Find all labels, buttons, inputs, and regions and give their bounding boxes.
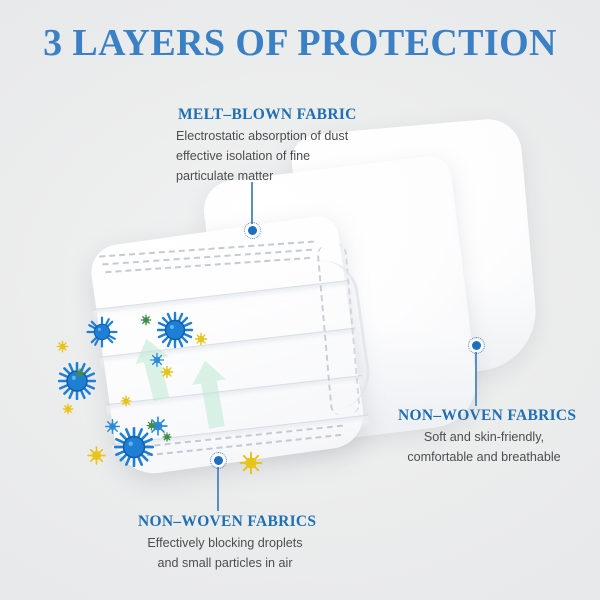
non-woven-inner-body: Effectively blocking droplets and small … bbox=[134, 533, 316, 573]
non-woven-inner-marker[interactable] bbox=[210, 452, 227, 469]
non-woven-inner-leader-line bbox=[217, 467, 219, 511]
melt-blown-body: Electrostatic absorption of dust effecti… bbox=[176, 126, 348, 186]
virus-particle-icon bbox=[75, 368, 85, 378]
virus-particle-icon bbox=[146, 420, 157, 431]
virus-particle-icon bbox=[162, 432, 172, 442]
melt-blown-body-line: particulate matter bbox=[176, 166, 348, 186]
non-woven-outer-leader-line bbox=[475, 352, 477, 406]
mask-stitch-line bbox=[105, 257, 310, 273]
arrow-stem bbox=[201, 381, 225, 429]
non-woven-outer-marker[interactable] bbox=[468, 337, 485, 354]
virus-particle-icon bbox=[120, 395, 132, 407]
virus-particle-icon bbox=[238, 450, 264, 476]
marker-dot bbox=[472, 341, 481, 350]
virus-particle-icon bbox=[104, 418, 121, 435]
virus-particle-icon bbox=[155, 310, 195, 350]
virus-particle-icon bbox=[56, 340, 69, 353]
mask-pleat bbox=[93, 280, 351, 323]
non-woven-outer-heading: NON–WOVEN FABRICS bbox=[398, 407, 576, 425]
virus-particle-icon bbox=[85, 315, 119, 349]
mask-stitch-line bbox=[99, 241, 314, 258]
mask-stitch-line bbox=[102, 249, 312, 266]
virus-particle-icon bbox=[140, 314, 152, 326]
melt-blown-body-line: effective isolation of fine bbox=[176, 146, 348, 166]
virus-particle-icon bbox=[160, 365, 174, 379]
non-woven-inner-body-line: Effectively blocking droplets bbox=[134, 533, 316, 553]
page-title: 3 LAYERS OF PROTECTION bbox=[0, 21, 600, 65]
virus-particle-icon bbox=[86, 445, 107, 466]
non-woven-outer-body: Soft and skin-friendly, comfortable and … bbox=[398, 427, 570, 467]
marker-dot bbox=[248, 226, 257, 235]
non-woven-inner-heading: NON–WOVEN FABRICS bbox=[138, 513, 316, 531]
virus-particle-icon bbox=[62, 403, 74, 415]
arrow-head bbox=[188, 358, 225, 386]
non-woven-outer-body-line: Soft and skin-friendly, bbox=[398, 427, 570, 447]
marker-dot bbox=[214, 456, 223, 465]
melt-blown-heading: MELT–BLOWN FABRIC bbox=[178, 106, 357, 124]
infographic-canvas: 3 LAYERS OF PROTECTION bbox=[0, 0, 600, 600]
melt-blown-marker[interactable] bbox=[244, 222, 261, 239]
non-woven-outer-body-line: comfortable and breathable bbox=[398, 447, 570, 467]
virus-particle-icon bbox=[194, 332, 208, 346]
non-woven-inner-body-line: and small particles in air bbox=[134, 553, 316, 573]
virus-particle-icon bbox=[56, 360, 98, 402]
melt-blown-body-line: Electrostatic absorption of dust bbox=[176, 126, 348, 146]
